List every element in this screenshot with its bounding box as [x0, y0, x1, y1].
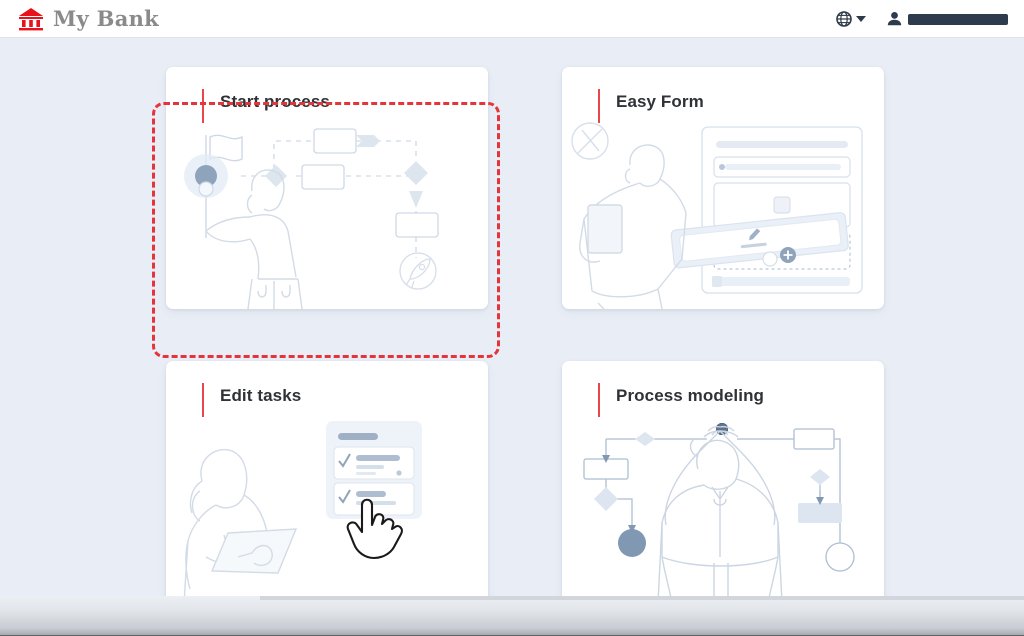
edit-tasks-illustration: [166, 407, 488, 603]
easy-form-illustration: [562, 113, 884, 309]
app-header: My Bank: [0, 0, 1024, 38]
card-start-process[interactable]: Start process: [166, 67, 488, 309]
card-edit-tasks[interactable]: Edit tasks: [166, 361, 488, 603]
chevron-down-icon: [856, 16, 866, 22]
process-modeling-art: [562, 407, 884, 603]
person-icon: [887, 11, 902, 27]
start-process-art: [166, 113, 488, 309]
user-menu[interactable]: [887, 11, 1008, 27]
user-name-redacted: [908, 14, 1008, 25]
scrollbar-thumb[interactable]: [260, 596, 1024, 600]
tile-grid: Start process: [166, 67, 886, 603]
process-modeling-illustration: [562, 407, 884, 603]
card-title: Process modeling: [616, 386, 764, 406]
easy-form-art: [562, 113, 884, 309]
app-root: My Bank: [0, 0, 1024, 636]
horizontal-scrollbar[interactable]: [0, 596, 1024, 636]
language-selector[interactable]: [836, 11, 866, 27]
brand-logo[interactable]: My Bank: [18, 7, 159, 31]
header-actions: [836, 0, 1008, 38]
card-title: Edit tasks: [220, 386, 301, 406]
card-easy-form[interactable]: Easy Form: [562, 67, 884, 309]
start-process-illustration: [166, 113, 488, 309]
card-title: Start process: [220, 92, 330, 112]
globe-icon: [836, 11, 852, 27]
card-process-modeling[interactable]: Process modeling: [562, 361, 884, 603]
edit-tasks-art: [166, 407, 488, 603]
brand-name: My Bank: [53, 8, 159, 29]
page-body: Start process: [0, 38, 1024, 636]
card-title: Easy Form: [616, 92, 704, 112]
bank-icon: [18, 7, 44, 31]
